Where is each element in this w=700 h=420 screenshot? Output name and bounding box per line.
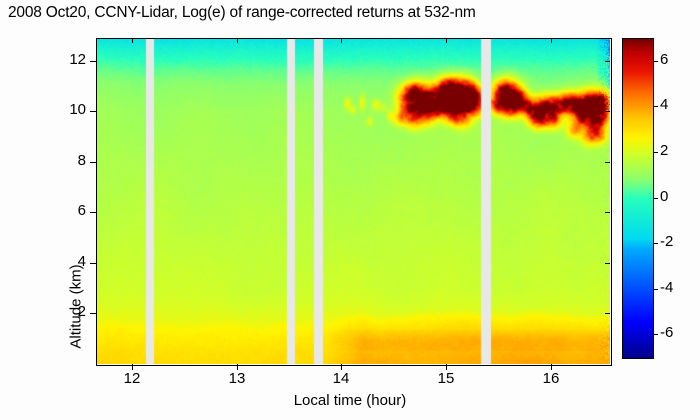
x-tick-label-14: 14 xyxy=(321,370,361,387)
y-axis-title-wrap: Altitude (km) xyxy=(48,130,68,270)
x-tick-label-16: 16 xyxy=(531,370,571,387)
colorbar-tick-2 xyxy=(653,152,658,153)
y-tick-label-4: 4 xyxy=(46,253,86,270)
figure-title: 2008 Oct20, CCNY-Lidar, Log(e) of range-… xyxy=(8,4,698,22)
colorbar-tick-label--2: -2 xyxy=(660,233,673,250)
y-tick-4 xyxy=(90,263,96,264)
y-tick-8 xyxy=(90,162,96,163)
y-tick-12 xyxy=(90,61,96,62)
colorbar-tick-label-2: 2 xyxy=(660,142,668,159)
colorbar xyxy=(622,38,654,359)
x-tick-top-13 xyxy=(237,38,238,43)
colorbar-tick-4 xyxy=(653,106,658,107)
colorbar-tick-6 xyxy=(653,61,658,62)
x-tick-label-13: 13 xyxy=(217,370,257,387)
colorbar-tick-label--4: -4 xyxy=(660,279,673,296)
x-axis-title: Local time (hour) xyxy=(0,392,700,409)
y-tick-right-12 xyxy=(605,61,610,62)
y-tick-right-2 xyxy=(605,313,610,314)
colorbar-tick-label-0: 0 xyxy=(660,188,668,205)
colorbar-tick-0 xyxy=(653,198,658,199)
colorbar-tick-label--6: -6 xyxy=(660,324,673,341)
y-tick-right-6 xyxy=(605,212,610,213)
x-tick-label-12: 12 xyxy=(112,370,152,387)
y-tick-label-6: 6 xyxy=(46,202,86,219)
y-tick-right-10 xyxy=(605,111,610,112)
colorbar-tick-label-6: 6 xyxy=(660,51,668,68)
y-tick-label-8: 8 xyxy=(46,152,86,169)
y-tick-label-2: 2 xyxy=(46,303,86,320)
colorbar-canvas xyxy=(623,39,653,358)
x-tick-top-16 xyxy=(551,38,552,43)
colorbar-tick--2 xyxy=(653,243,658,244)
y-tick-label-10: 10 xyxy=(46,101,86,118)
colorbar-tick-label-4: 4 xyxy=(660,96,668,113)
x-tick-top-15 xyxy=(446,38,447,43)
y-tick-right-8 xyxy=(605,162,610,163)
x-tick-label-15: 15 xyxy=(426,370,466,387)
y-tick-label-12: 12 xyxy=(46,51,86,68)
heatmap-canvas xyxy=(96,38,610,364)
x-tick-top-12 xyxy=(132,38,133,43)
y-tick-right-4 xyxy=(605,263,610,264)
x-tick-top-14 xyxy=(341,38,342,43)
colorbar-tick--6 xyxy=(653,334,658,335)
y-tick-2 xyxy=(90,313,96,314)
y-tick-10 xyxy=(90,111,96,112)
colorbar-tick--4 xyxy=(653,289,658,290)
lidar-figure: 2008 Oct20, CCNY-Lidar, Log(e) of range-… xyxy=(0,0,700,420)
y-tick-6 xyxy=(90,212,96,213)
heatmap-plot-area xyxy=(96,38,610,364)
